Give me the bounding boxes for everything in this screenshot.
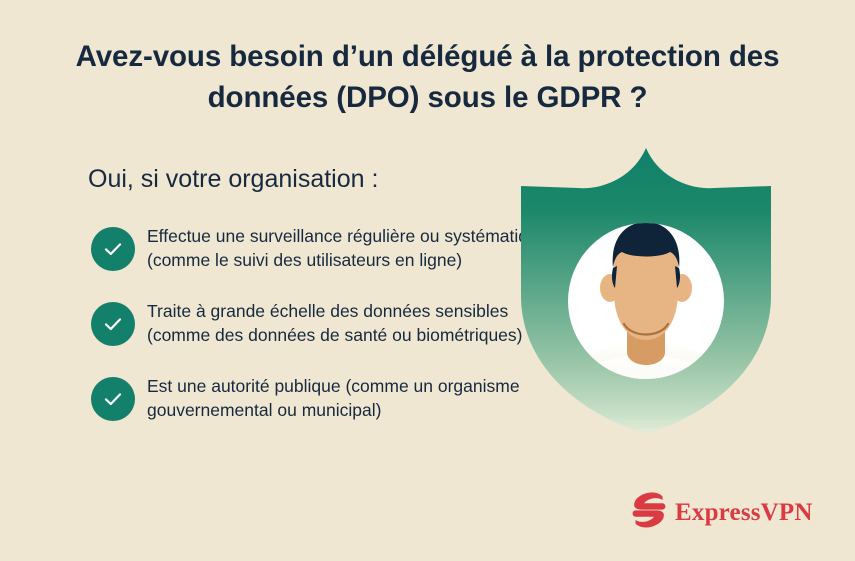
- expressvpn-e-mark-icon: [632, 491, 666, 534]
- subtitle: Oui, si votre organisation :: [88, 162, 378, 196]
- list-item-label: Est une autorité publique (comme un orga…: [147, 374, 561, 422]
- infographic-canvas: Avez-vous besoin d’un délégué à la prote…: [0, 0, 855, 561]
- page-title: Avez-vous besoin d’un délégué à la prote…: [60, 36, 795, 118]
- check-icon: [91, 302, 135, 346]
- shield-with-person-icon: [518, 146, 774, 436]
- check-icon: [91, 227, 135, 271]
- expressvpn-wordmark: ExpressVPN: [675, 500, 813, 525]
- list-item: Effectue une surveillance régulière ou s…: [91, 224, 561, 272]
- check-icon: [91, 377, 135, 421]
- criteria-list: Effectue une surveillance régulière ou s…: [91, 224, 561, 422]
- expressvpn-logo: ExpressVPN: [632, 491, 813, 534]
- list-item: Est une autorité publique (comme un orga…: [91, 374, 561, 422]
- list-item-label: Traite à grande échelle des données sens…: [147, 299, 561, 347]
- list-item-label: Effectue une surveillance régulière ou s…: [147, 224, 561, 272]
- list-item: Traite à grande échelle des données sens…: [91, 299, 561, 347]
